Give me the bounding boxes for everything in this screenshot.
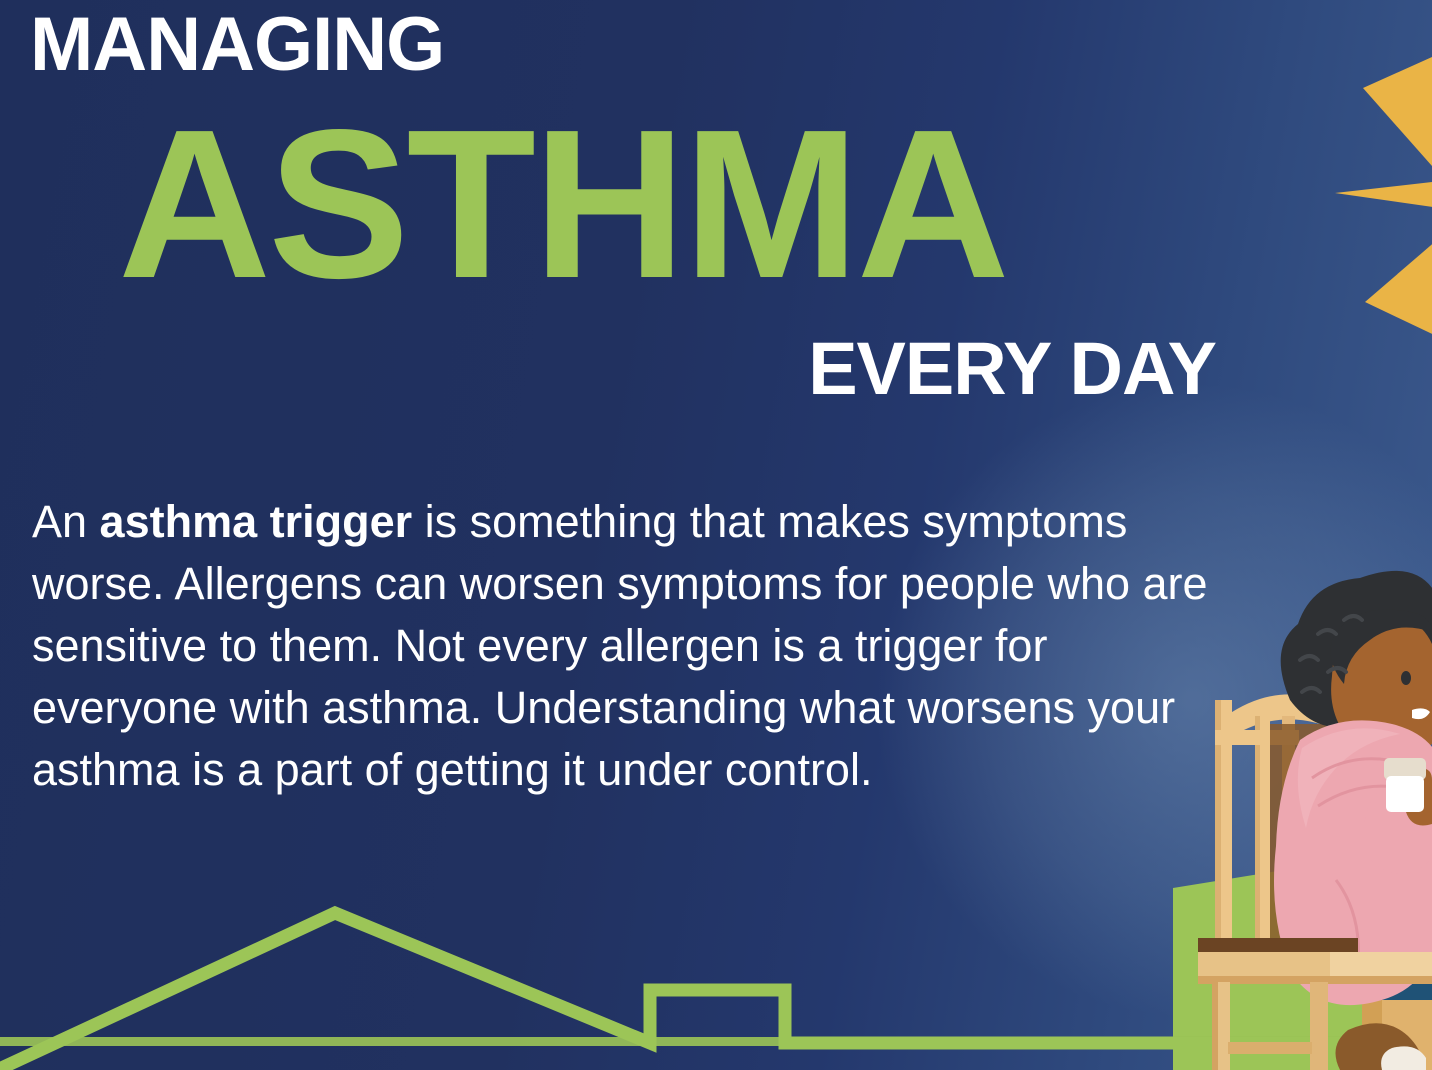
- headline-main: ASTHMA: [118, 96, 1007, 311]
- infographic-poster: MANAGING ASTHMA EVERY DAY An asthma trig…: [0, 0, 1432, 1070]
- headline-sub: EVERY DAY: [0, 330, 1216, 408]
- starburst-icon: [1335, 40, 1432, 352]
- headline-kicker: MANAGING: [30, 5, 444, 85]
- white-mug: [1384, 758, 1426, 812]
- eye: [1401, 671, 1411, 685]
- body-bold-term: asthma trigger: [100, 496, 413, 547]
- body-lead: An: [32, 496, 100, 547]
- body-paragraph: An asthma trigger is something that make…: [32, 491, 1222, 801]
